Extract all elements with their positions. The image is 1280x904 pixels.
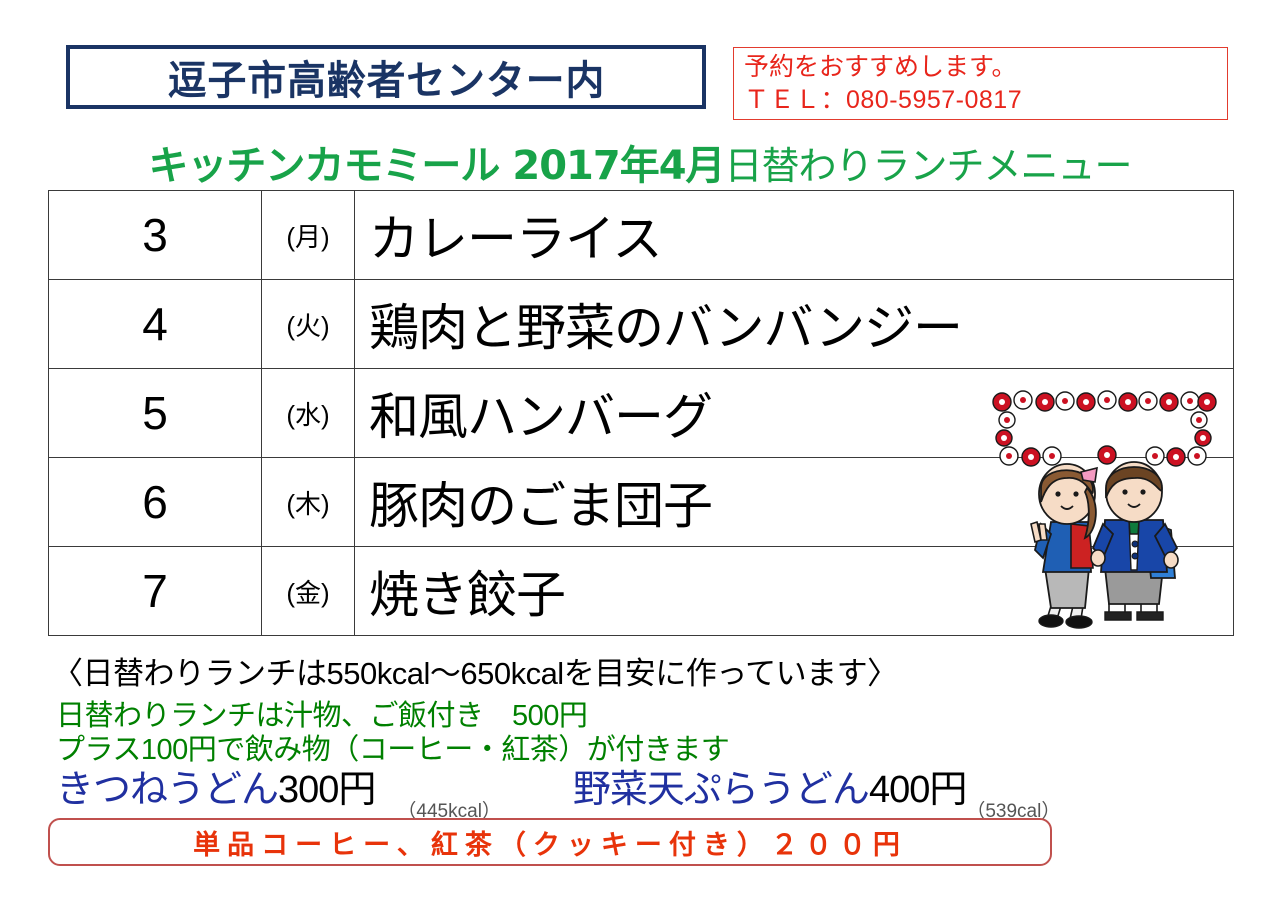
menu-dish-cell: 豚肉のごま団子 xyxy=(355,458,1234,547)
menu-weekday-text: (火) xyxy=(286,311,329,341)
headline-menu-label: 日替わりランチメニュー xyxy=(725,146,1132,188)
daily-lunch-menu-table: 3 (月) カレーライス 4 (火) 鶏肉と野菜のバンバンジー 5 (水) 和風… xyxy=(48,190,1234,636)
page-headline: キッチンカモミール 2017年4月日替わりランチメニュー xyxy=(0,133,1280,191)
reservation-box: 予約をおすすめします。 ＴＥＬ：080-5957-0817 xyxy=(733,47,1228,120)
menu-weekday-cell: (月) xyxy=(262,191,355,280)
table-row: 6 (木) 豚肉のごま団子 xyxy=(49,458,1234,547)
table-row: 3 (月) カレーライス xyxy=(49,191,1234,280)
menu-weekday-text: (木) xyxy=(286,489,329,519)
reservation-recommendation-text: 予約をおすすめします。 xyxy=(744,51,1227,84)
tempura-udon-price: 400円 xyxy=(869,769,966,811)
menu-dish-cell: カレーライス xyxy=(355,191,1234,280)
table-row: 5 (水) 和風ハンバーグ xyxy=(49,369,1234,458)
menu-date-cell: 4 xyxy=(49,280,262,369)
menu-weekday-cell: (木) xyxy=(262,458,355,547)
menu-dish-cell: 和風ハンバーグ xyxy=(355,369,1234,458)
menu-dish-text: 豚肉のごま団子 xyxy=(355,478,712,534)
menu-dish-text: 鶏肉と野菜のバンバンジー xyxy=(355,300,962,356)
menu-date-cell: 5 xyxy=(49,369,262,458)
menu-date-cell: 7 xyxy=(49,547,262,636)
menu-date-text: 6 xyxy=(142,476,168,528)
coffee-tea-banner-text: 単品コーヒー、紅茶（クッキー付き）２００円 xyxy=(193,823,907,862)
menu-weekday-cell: (水) xyxy=(262,369,355,458)
menu-dish-text: 和風ハンバーグ xyxy=(355,389,712,445)
menu-weekday-cell: (火) xyxy=(262,280,355,369)
menu-date-text: 3 xyxy=(142,209,168,261)
kcal-range-note: 〈日替わりランチは550kcal～650kcalを目安に作っています〉 xyxy=(52,648,898,693)
menu-weekday-cell: (金) xyxy=(262,547,355,636)
menu-weekday-text: (金) xyxy=(286,578,329,608)
menu-date-text: 5 xyxy=(142,387,168,439)
menu-dish-text: 焼き餃子 xyxy=(355,567,565,623)
menu-date-text: 7 xyxy=(142,565,168,617)
table-row: 7 (金) 焼き餃子 xyxy=(49,547,1234,636)
kitsune-udon-price: 300円 xyxy=(278,769,375,811)
headline-shop-and-month: キッチンカモミール 2017年4月 xyxy=(148,143,724,189)
udon-price-row: きつねうどん300円（445kcal）野菜天ぷらうどん400円（539cal） xyxy=(56,758,1176,808)
menu-date-text: 4 xyxy=(142,298,168,350)
venue-title-box: 逗子市高齢者センター内 xyxy=(66,45,706,109)
tempura-udon-name: 野菜天ぷらうどん xyxy=(573,769,869,811)
table-row: 4 (火) 鶏肉と野菜のバンバンジー xyxy=(49,280,1234,369)
venue-title-text: 逗子市高齢者センター内 xyxy=(167,48,604,106)
menu-dish-cell: 鶏肉と野菜のバンバンジー xyxy=(355,280,1234,369)
menu-date-cell: 6 xyxy=(49,458,262,547)
menu-dish-text: カレーライス xyxy=(355,211,662,267)
menu-dish-cell: 焼き餃子 xyxy=(355,547,1234,636)
kitsune-udon-name: きつねうどん xyxy=(56,769,278,811)
menu-date-cell: 3 xyxy=(49,191,262,280)
coffee-tea-banner: 単品コーヒー、紅茶（クッキー付き）２００円 xyxy=(48,818,1052,866)
telephone-number-text: ＴＥＬ：080-5957-0817 xyxy=(744,84,1227,117)
menu-weekday-text: (水) xyxy=(286,400,329,430)
menu-weekday-text: (月) xyxy=(286,222,329,252)
